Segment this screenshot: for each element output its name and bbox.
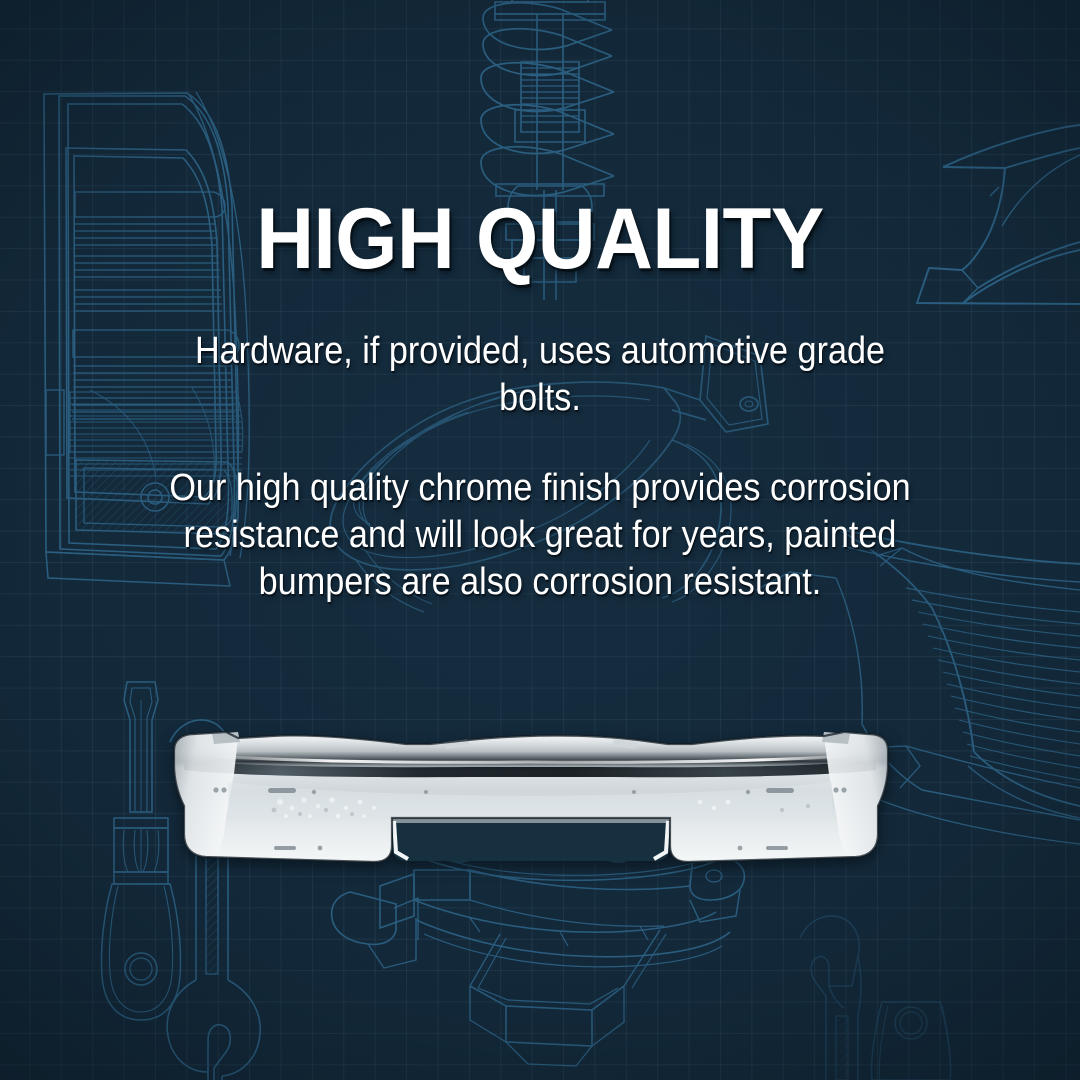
- screwdriver-blueprint-secondary: [871, 1002, 950, 1080]
- wrench-blueprint-secondary: [800, 916, 861, 1080]
- body-paragraph-hardware: Hardware, if provided, uses automotive g…: [162, 328, 918, 421]
- chrome-bumper-illustration: [168, 722, 894, 868]
- page-title: HIGH QUALITY: [149, 196, 930, 282]
- body-paragraph-chrome-finish: Our high quality chrome finish provides …: [162, 465, 918, 605]
- product-image-chrome-bumper: [168, 722, 894, 868]
- product-feature-graphic: HIGH QUALITY Hardware, if provided, uses…: [0, 0, 1080, 1080]
- copy-block: HIGH QUALITY Hardware, if provided, uses…: [0, 196, 1080, 606]
